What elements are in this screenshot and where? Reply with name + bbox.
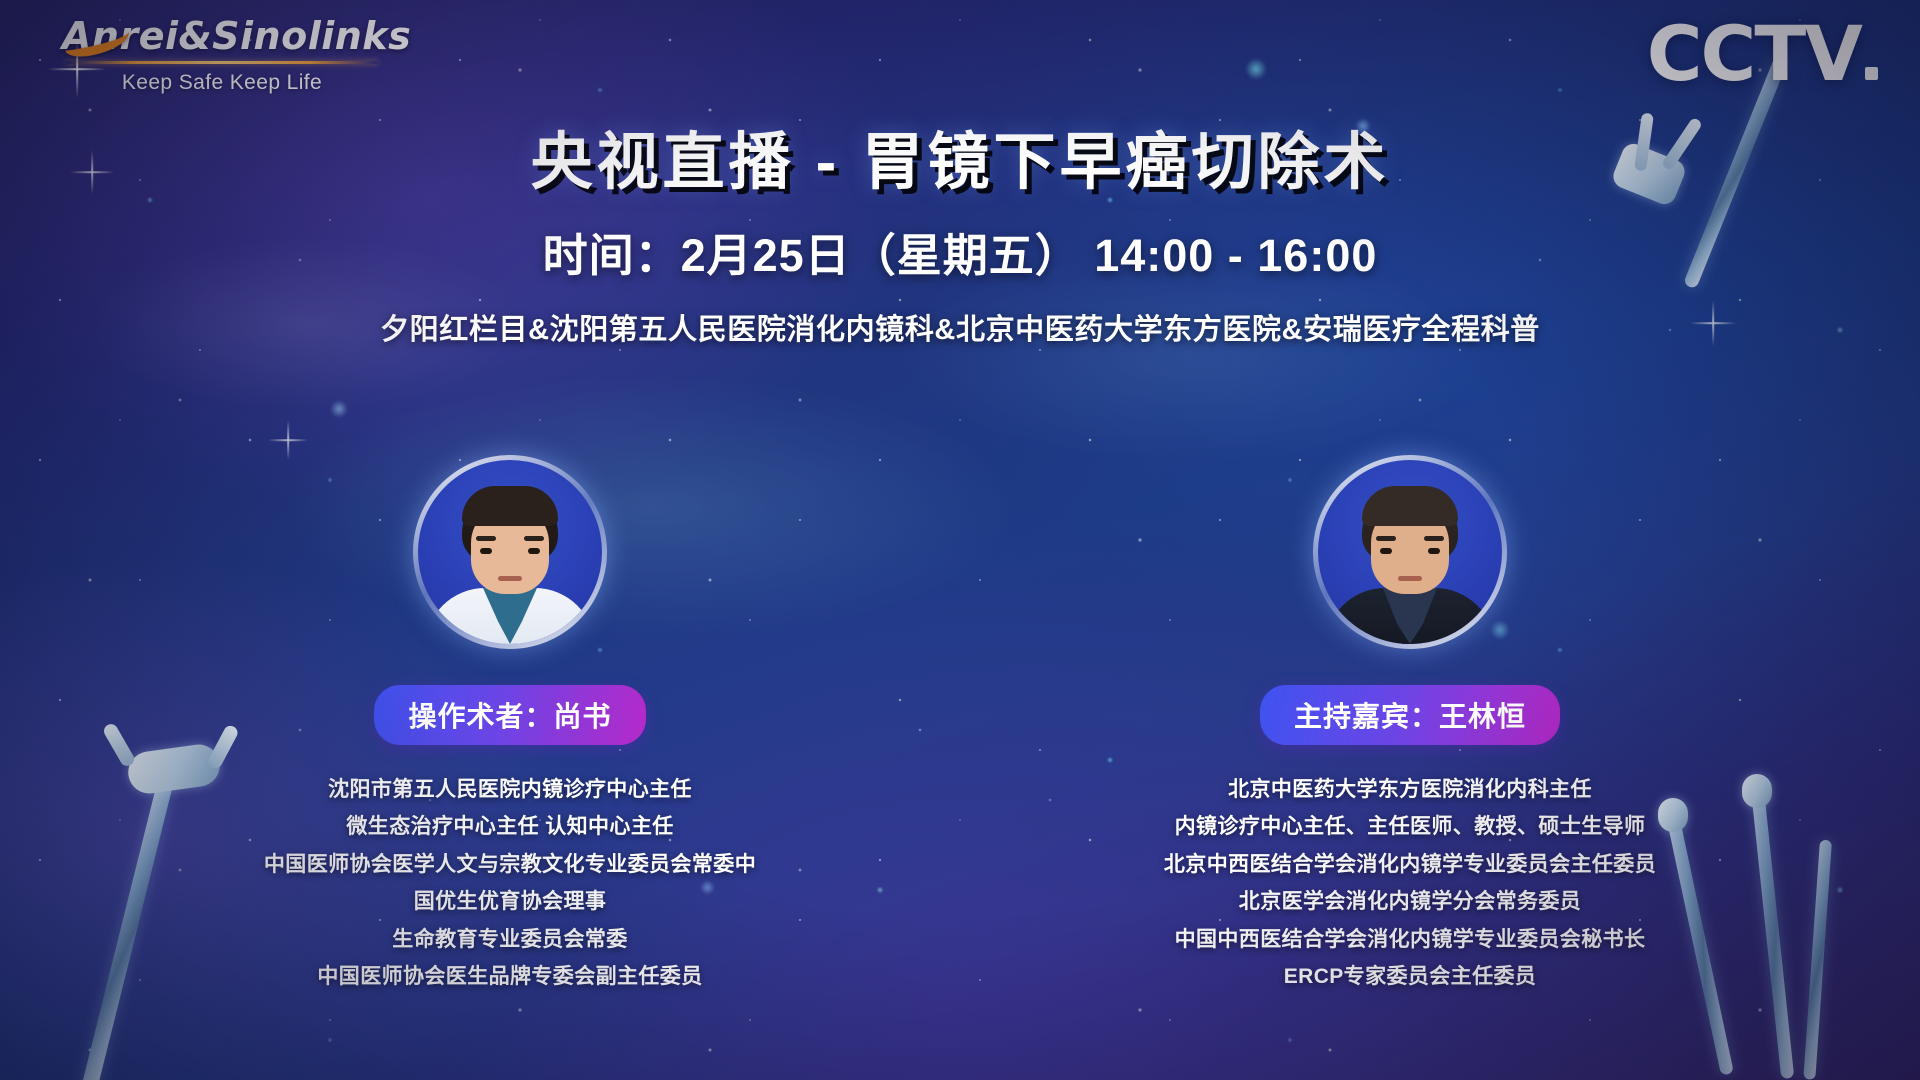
credential-line: 北京中医药大学东方医院消化内科主任 bbox=[1164, 771, 1656, 808]
bokeh-dot bbox=[330, 400, 348, 418]
credential-line: 国优生优育协会理事 bbox=[264, 883, 756, 920]
avatar-ring bbox=[413, 455, 607, 649]
brand-tagline: Keep Safe Keep Life bbox=[62, 71, 382, 95]
speaker-role-badge: 操作术者：尚书 bbox=[374, 685, 645, 745]
brand-logo: Anrei&Sinolinks Keep Safe Keep Life bbox=[62, 14, 382, 95]
brow-right bbox=[524, 536, 544, 541]
speaker-credentials: 沈阳市第五人民医院内镜诊疗中心主任 微生态治疗中心主任 认知中心主任 中国医师协… bbox=[264, 771, 756, 995]
cctv-logo: CCTV bbox=[1647, 16, 1878, 92]
eye-left bbox=[480, 548, 492, 554]
credential-line: 中国医师协会医生品牌专委会副主任委员 bbox=[264, 958, 756, 995]
organizers-line: 夕阳红栏目&沈阳第五人民医院消化内镜科&北京中医药大学东方医院&安瑞医疗全程科普 bbox=[0, 306, 1920, 348]
hair-top-shape bbox=[462, 486, 558, 526]
brow-right bbox=[1424, 536, 1444, 541]
cctv-logo-text: CCTV bbox=[1647, 9, 1861, 98]
page-title: 央视直播 - 胃镜下早癌切除术 bbox=[0, 128, 1920, 197]
credential-line: 中国医师协会医学人文与宗教文化专业委员会常委中 bbox=[264, 846, 756, 883]
speaker-card-operator: 操作术者：尚书 沈阳市第五人民医院内镜诊疗中心主任 微生态治疗中心主任 认知中心… bbox=[275, 455, 745, 995]
event-time: 时间：2月25日（星期五） 14:00 - 16:00 bbox=[0, 219, 1920, 284]
speaker-card-host: 主持嘉宾：王林恒 北京中医药大学东方医院消化内科主任 内镜诊疗中心主任、主任医师… bbox=[1175, 455, 1645, 995]
sparkle-star bbox=[268, 420, 308, 460]
brand-divider bbox=[66, 61, 378, 64]
credential-line: ERCP专家委员会主任委员 bbox=[1164, 958, 1656, 995]
credential-line: 中国中西医结合学会消化内镜学专业委员会秘书长 bbox=[1164, 921, 1656, 958]
credential-line: 内镜诊疗中心主任、主任医师、教授、硕士生导师 bbox=[1164, 808, 1656, 845]
avatar-ring bbox=[1313, 455, 1507, 649]
hair-top-shape bbox=[1362, 486, 1458, 526]
credential-line: 北京中西医结合学会消化内镜学专业委员会主任委员 bbox=[1164, 846, 1656, 883]
brow-left bbox=[476, 536, 496, 541]
avatar bbox=[1318, 460, 1502, 644]
headline-block: 央视直播 - 胃镜下早癌切除术 时间：2月25日（星期五） 14:00 - 16… bbox=[0, 128, 1920, 348]
mouth-shape bbox=[1398, 576, 1422, 581]
credential-line: 沈阳市第五人民医院内镜诊疗中心主任 bbox=[264, 771, 756, 808]
credential-line: 生命教育专业委员会常委 bbox=[264, 921, 756, 958]
brand-name: Anrei&Sinolinks bbox=[62, 14, 382, 58]
eye-left bbox=[1380, 548, 1392, 554]
speaker-role-badge: 主持嘉宾：王林恒 bbox=[1260, 685, 1560, 745]
speakers-section: 操作术者：尚书 沈阳市第五人民医院内镜诊疗中心主任 微生态治疗中心主任 认知中心… bbox=[0, 455, 1920, 995]
mouth-shape bbox=[498, 576, 522, 581]
bokeh-dot bbox=[1245, 58, 1267, 80]
poster-canvas: Anrei&Sinolinks Keep Safe Keep Life CCTV… bbox=[0, 0, 1920, 1080]
eye-right bbox=[528, 548, 540, 554]
credential-line: 北京医学会消化内镜学分会常务委员 bbox=[1164, 883, 1656, 920]
credential-line: 微生态治疗中心主任 认知中心主任 bbox=[264, 808, 756, 845]
brow-left bbox=[1376, 536, 1396, 541]
cctv-dot-icon bbox=[1865, 67, 1878, 80]
speaker-credentials: 北京中医药大学东方医院消化内科主任 内镜诊疗中心主任、主任医师、教授、硕士生导师… bbox=[1164, 771, 1656, 995]
eye-right bbox=[1428, 548, 1440, 554]
avatar bbox=[418, 460, 602, 644]
